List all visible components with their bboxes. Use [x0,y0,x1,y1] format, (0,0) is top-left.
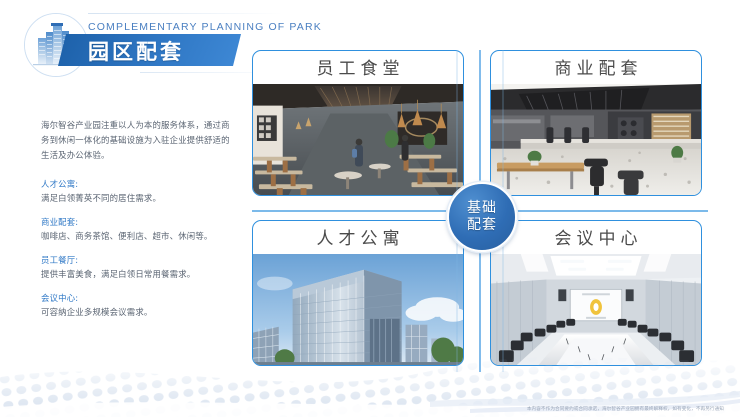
list-item-desc: 满足白领菁英不同的居住需求。 [41,191,237,205]
commercial-amenities-photo [491,84,701,195]
staff-canteen-photo [253,84,463,195]
conference-center-photo [491,254,701,365]
intro-paragraph: 海尔智谷产业园注重以人为本的服务体系，通过商务到休闲一体化的基础设施为入驻企业提… [41,118,237,163]
list-item-desc: 可容纳企业多规模会议需求。 [41,305,237,319]
bottom-ribbon-decoration [0,387,740,417]
header-hairline-top [88,13,283,14]
list-item: 人才公寓: 满足白领菁英不同的居住需求。 [41,177,237,205]
card-title: 会议中心 [491,226,701,252]
center-badge-line1: 基础 [467,200,497,217]
center-badge-label: 基础 配套 [467,200,497,234]
list-item: 员工餐厅: 提供丰富美食，满足白领日常用餐需求。 [41,253,237,281]
header-chinese-title: 园区配套 [88,36,184,66]
list-item-title: 会议中心: [41,291,237,305]
card-title: 人才公寓 [253,226,463,252]
slide-root: COMPLEMENTARY PLANNING OF PARK 园区配套 海尔智谷… [0,0,740,417]
card-title: 商业配套 [491,56,701,82]
description-panel: 海尔智谷产业园注重以人为本的服务体系，通过商务到休闲一体化的基础设施为入驻企业提… [41,118,237,329]
card-conference-center[interactable]: 会议中心 [490,220,702,366]
list-item: 会议中心: 可容纳企业多规模会议需求。 [41,291,237,319]
card-commercial-amenities[interactable]: 商业配套 [490,50,702,196]
list-item: 商业配套: 咖啡店、商务茶馆、便利店、超市、休闲等。 [41,215,237,243]
card-title: 员工食堂 [253,56,463,82]
footer-disclaimer: 本内容不作为合同要约或合同承诺，海尔智谷产业园拥有最终解释权，如有变化，不再另行… [527,406,724,412]
list-item-desc: 提供丰富美食，满足白领日常用餐需求。 [41,267,237,281]
list-item-title: 人才公寓: [41,177,237,191]
center-badge-line2: 配套 [467,217,497,234]
list-item-title: 商业配套: [41,215,237,229]
list-item-desc: 咖啡店、商务茶馆、便利店、超市、休闲等。 [41,229,237,243]
talent-apartment-photo [253,254,463,365]
header-english-title: COMPLEMENTARY PLANNING OF PARK [88,21,322,33]
card-staff-canteen[interactable]: 员工食堂 [252,50,464,196]
center-badge[interactable]: 基础 配套 [447,182,517,252]
list-item-title: 员工餐厅: [41,253,237,267]
card-talent-apartment[interactable]: 人才公寓 [252,220,464,366]
